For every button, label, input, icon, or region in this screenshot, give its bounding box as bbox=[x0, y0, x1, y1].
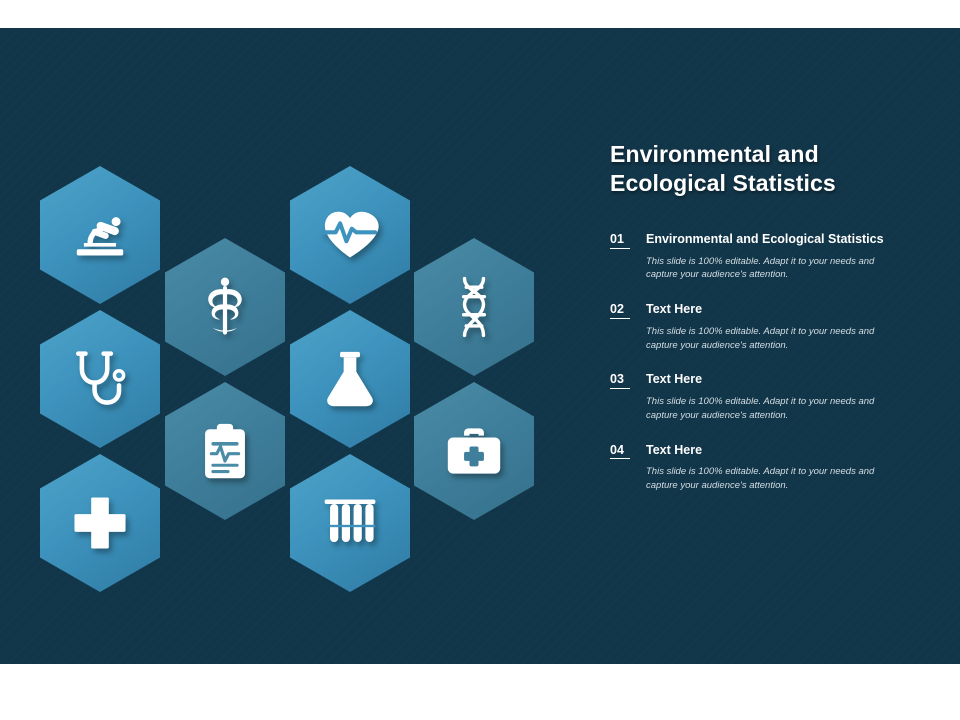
microscope-icon bbox=[71, 210, 129, 260]
list-item-header: 01 Environmental and Ecological Statisti… bbox=[610, 233, 930, 249]
list-item-title: Text Here bbox=[646, 373, 702, 387]
list-item: 01 Environmental and Ecological Statisti… bbox=[610, 233, 930, 282]
page-title-line-1: Environmental and bbox=[610, 140, 910, 169]
hexagon-microscope[interactable] bbox=[40, 166, 160, 304]
list-item-header: 02 Text Here bbox=[610, 303, 930, 319]
list-item-title: Environmental and Ecological Statistics bbox=[646, 233, 884, 247]
hexagon-flask[interactable] bbox=[290, 310, 410, 448]
dna-icon bbox=[454, 276, 494, 338]
list-item: 03 Text Here This slide is 100% editable… bbox=[610, 373, 930, 422]
caduceus-icon bbox=[199, 276, 251, 338]
hexagon-medical-cross[interactable] bbox=[40, 454, 160, 592]
stethoscope-icon bbox=[72, 350, 128, 408]
list-item-body: This slide is 100% editable. Adapt it to… bbox=[646, 395, 886, 423]
test-tubes-icon bbox=[321, 497, 379, 549]
list-item-number: 01 bbox=[610, 233, 630, 249]
list-item: 04 Text Here This slide is 100% editable… bbox=[610, 444, 930, 493]
hexagon-dna[interactable] bbox=[414, 238, 534, 376]
list-item-number: 02 bbox=[610, 303, 630, 319]
flask-icon bbox=[323, 350, 377, 408]
list-item: 02 Text Here This slide is 100% editable… bbox=[610, 303, 930, 352]
list-item-number: 03 bbox=[610, 373, 630, 389]
hexagon-test-tubes[interactable] bbox=[290, 454, 410, 592]
clipboard-report-icon bbox=[201, 422, 249, 480]
hexagon-caduceus[interactable] bbox=[165, 238, 285, 376]
medical-cross-icon bbox=[74, 497, 126, 549]
list-item-body: This slide is 100% editable. Adapt it to… bbox=[646, 465, 886, 493]
top-white-band bbox=[0, 0, 960, 28]
page-title-line-2: Ecological Statistics bbox=[610, 169, 910, 198]
content-panel: Environmental and Ecological Statistics … bbox=[610, 140, 930, 514]
list-item-title: Text Here bbox=[646, 303, 702, 317]
slide-canvas: Environmental and Ecological Statistics … bbox=[0, 28, 960, 664]
heart-pulse-icon bbox=[321, 209, 379, 261]
list-item-body: This slide is 100% editable. Adapt it to… bbox=[646, 325, 886, 353]
page-title: Environmental and Ecological Statistics bbox=[610, 140, 910, 199]
bottom-white-band bbox=[0, 664, 960, 720]
hexagon-icon-cluster bbox=[20, 128, 580, 598]
list-item-body: This slide is 100% editable. Adapt it to… bbox=[646, 255, 886, 283]
list-item-title: Text Here bbox=[646, 444, 702, 458]
list-item-header: 04 Text Here bbox=[610, 444, 930, 460]
list-item-header: 03 Text Here bbox=[610, 373, 930, 389]
list-item-number: 04 bbox=[610, 444, 630, 460]
hexagon-clipboard-report[interactable] bbox=[165, 382, 285, 520]
medical-bag-icon bbox=[446, 426, 502, 476]
hexagon-heart-pulse[interactable] bbox=[290, 166, 410, 304]
hexagon-stethoscope[interactable] bbox=[40, 310, 160, 448]
hexagon-medical-bag[interactable] bbox=[414, 382, 534, 520]
